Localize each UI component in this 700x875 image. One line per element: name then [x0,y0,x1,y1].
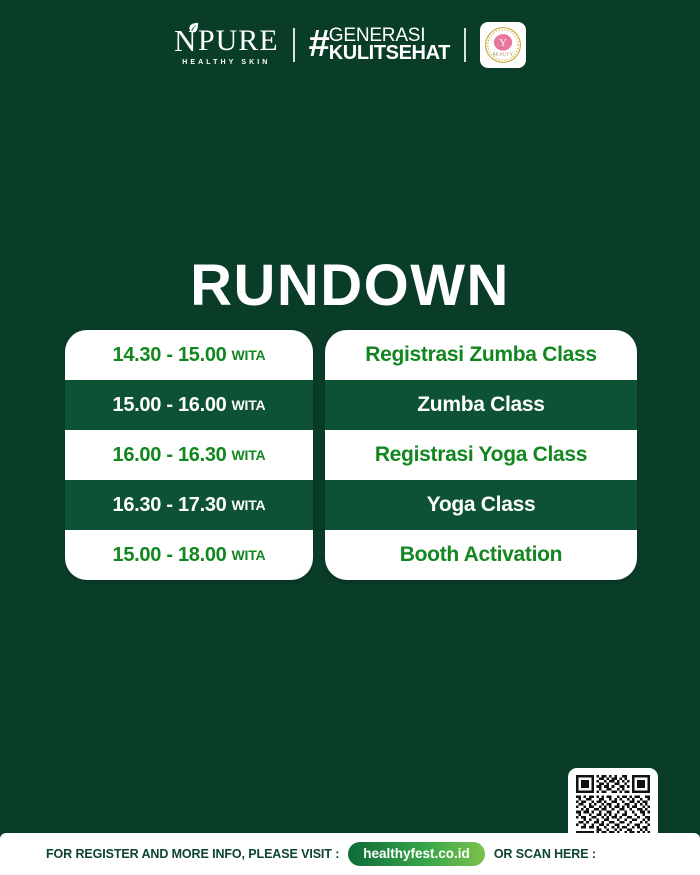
footer-bar: FOR REGISTER AND MORE INFO, PLEASE VISIT… [0,833,700,875]
row-time-unit: WITA [232,547,266,563]
row-time: 16.00 - 16.30 [113,444,227,467]
row-event: Booth Activation [400,543,562,567]
logo-divider-right [464,28,466,62]
npure-letter-n: N [174,25,198,56]
table-row: Yoga Class [325,480,637,530]
table-row: 15.00 - 18.00 WITA [65,530,313,580]
campaign-logo: # GENERASI KULITSEHAT [309,28,450,61]
npure-tagline: HEALTHY SKIN [182,59,270,66]
campaign-text-stack: GENERASI KULITSEHAT [329,28,450,61]
row-time: 16.30 - 17.30 [113,494,227,517]
page-title: RUNDOWN [0,252,700,319]
row-time: 14.30 - 15.00 [113,344,227,367]
table-row: 14.30 - 15.00 WITA [65,330,313,380]
schedule-time-column: 14.30 - 15.00 WITA 15.00 - 16.00 WITA 16… [65,330,313,580]
row-time-unit: WITA [232,347,266,363]
table-row: Registrasi Yoga Class [325,430,637,480]
npure-wordmark: N PURE [174,25,279,56]
table-row: Booth Activation [325,530,637,580]
row-time: 15.00 - 18.00 [113,544,227,567]
footer-lead-text: FOR REGISTER AND MORE INFO, PLEASE VISIT… [46,847,339,861]
row-time-unit: WITA [232,447,266,463]
campaign-line-2: KULITSEHAT [329,45,450,62]
svg-text:BEAUTY: BEAUTY [493,51,514,56]
leaf-icon [188,22,199,33]
schedule-table: 14.30 - 15.00 WITA 15.00 - 16.00 WITA 16… [65,330,637,580]
row-time: 15.00 - 16.00 [113,394,227,417]
table-row: 16.30 - 17.30 WITA [65,480,313,530]
footer-scan-text: OR SCAN HERE : [494,847,596,861]
row-time-unit: WITA [232,397,266,413]
schedule-event-column: Registrasi Zumba Class Zumba Class Regis… [325,330,637,580]
partner-badge: Y BEAUTY [480,22,526,68]
svg-text:Y: Y [499,38,507,49]
row-event: Registrasi Zumba Class [365,343,597,367]
npure-wordmark-text: PURE [198,26,279,56]
website-url-pill[interactable]: healthyfest.co.id [348,842,485,867]
npure-logo: N PURE HEALTHY SKIN [174,25,279,66]
row-event: Zumba Class [417,393,544,417]
table-row: Zumba Class [325,380,637,430]
logo-divider-left [293,28,295,62]
rundown-poster: N PURE HEALTHY SKIN # GENERASI KULITSEHA… [0,0,700,875]
y-beauty-emblem-icon: Y BEAUTY [483,25,523,65]
row-time-unit: WITA [232,497,266,513]
row-event: Yoga Class [427,493,536,517]
table-row: 16.00 - 16.30 WITA [65,430,313,480]
table-row: 15.00 - 16.00 WITA [65,380,313,430]
logo-bar: N PURE HEALTHY SKIN # GENERASI KULITSEHA… [0,18,700,72]
hashtag-icon: # [309,30,328,60]
row-event: Registrasi Yoga Class [375,443,587,467]
table-row: Registrasi Zumba Class [325,330,637,380]
